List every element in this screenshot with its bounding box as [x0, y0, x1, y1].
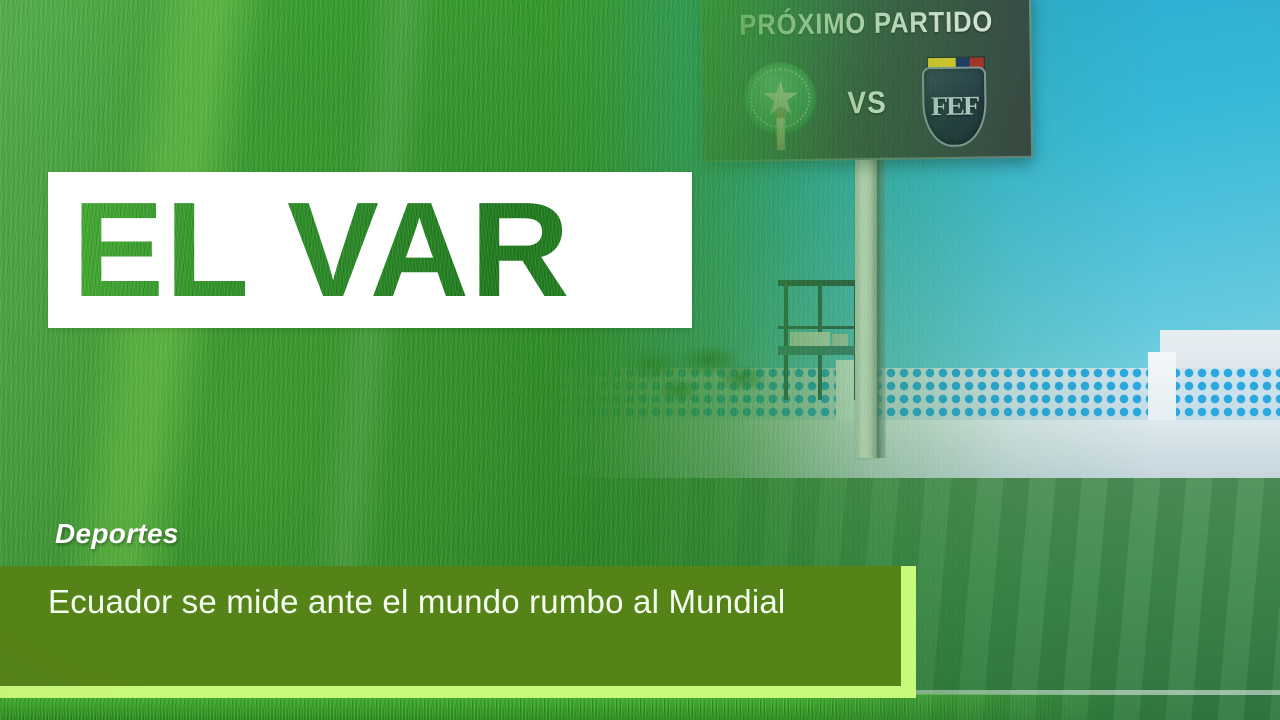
section-kicker: Deportes [55, 518, 179, 550]
page-title: EL VAR [58, 182, 682, 318]
title-plate-inner: EL VAR [58, 182, 682, 318]
social-card-root: PRÓXIMO PARTIDO VS [0, 0, 1280, 720]
title-plate: EL VAR [48, 172, 692, 328]
headline: Ecuador se mide ante el mundo rumbo al M… [48, 580, 878, 624]
